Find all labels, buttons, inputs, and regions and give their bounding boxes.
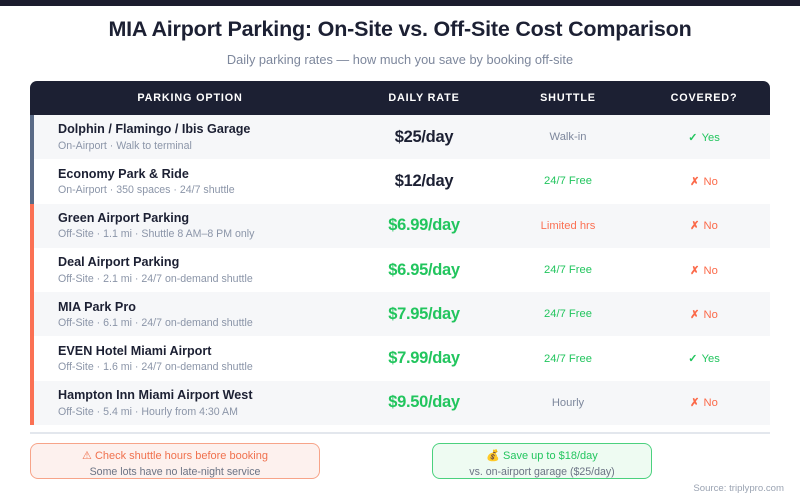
- parking-option-name: Economy Park & Ride: [58, 167, 350, 181]
- column-header-parking-option: PARKING OPTION: [30, 92, 350, 104]
- source-attribution: Source: triplypro.com: [693, 483, 784, 494]
- cell-shuttle: 24/7 Free: [498, 175, 638, 187]
- table-row[interactable]: Green Airport ParkingOff-Site · 1.1 mi ·…: [30, 204, 770, 248]
- cell-shuttle: 24/7 Free: [498, 308, 638, 320]
- column-header-shuttle: SHUTTLE: [498, 92, 638, 104]
- check-icon: ✓: [688, 132, 697, 144]
- table-header-row: PARKING OPTION DAILY RATE SHUTTLE COVERE…: [30, 81, 770, 115]
- cross-icon: ✗: [690, 176, 699, 188]
- savings-callout: 💰 Save up to $18/day vs. on-airport gara…: [432, 443, 652, 479]
- cell-daily-rate: $12/day: [350, 172, 498, 191]
- row-accent-bar: [30, 115, 34, 159]
- cell-covered: ✓Yes: [638, 131, 770, 144]
- table-row[interactable]: Hampton Inn Miami Airport WestOff-Site ·…: [30, 381, 770, 425]
- table-row[interactable]: MIA Park ProOff-Site · 6.1 mi · 24/7 on-…: [30, 292, 770, 336]
- covered-label: No: [704, 220, 718, 232]
- covered-label: No: [704, 176, 718, 188]
- parking-option-meta: Off-Site · 1.6 mi · 24/7 on-demand shutt…: [58, 361, 350, 373]
- row-accent-bar: [30, 292, 34, 336]
- cell-parking-option: Dolphin / Flamingo / Ibis GarageOn-Airpo…: [30, 122, 350, 152]
- page-title: MIA Airport Parking: On-Site vs. Off-Sit…: [0, 17, 800, 43]
- cell-daily-rate: $7.95/day: [350, 305, 498, 324]
- table-body: Dolphin / Flamingo / Ibis GarageOn-Airpo…: [30, 115, 770, 425]
- table-row[interactable]: Economy Park & RideOn-Airport · 350 spac…: [30, 159, 770, 203]
- cell-shuttle: Walk-in: [498, 131, 638, 143]
- table-row[interactable]: Deal Airport ParkingOff-Site · 2.1 mi · …: [30, 248, 770, 292]
- cross-icon: ✗: [690, 220, 699, 232]
- footer-callouts: ⚠ Check shuttle hours before booking Som…: [0, 443, 800, 483]
- covered-label: No: [704, 309, 718, 321]
- cross-icon: ✗: [690, 265, 699, 277]
- page-header: MIA Airport Parking: On-Site vs. Off-Sit…: [0, 0, 800, 67]
- cell-parking-option: MIA Park ProOff-Site · 6.1 mi · 24/7 on-…: [30, 300, 350, 330]
- parking-option-meta: Off-Site · 2.1 mi · 24/7 on-demand shutt…: [58, 273, 350, 285]
- savings-callout-text: Save up to $18/day: [503, 450, 598, 462]
- cell-covered: ✗No: [638, 396, 770, 409]
- warning-callout: ⚠ Check shuttle hours before booking Som…: [30, 443, 320, 479]
- cell-daily-rate: $6.99/day: [350, 216, 498, 235]
- page-subtitle: Daily parking rates — how much you save …: [0, 52, 800, 67]
- parking-option-meta: Off-Site · 1.1 mi · Shuttle 8 AM–8 PM on…: [58, 228, 350, 240]
- cell-parking-option: Green Airport ParkingOff-Site · 1.1 mi ·…: [30, 211, 350, 241]
- cell-shuttle: Limited hrs: [498, 220, 638, 232]
- cross-icon: ✗: [690, 397, 699, 409]
- warning-callout-text: Check shuttle hours before booking: [95, 450, 268, 462]
- money-bag-icon: 💰: [486, 450, 500, 462]
- cell-covered: ✗No: [638, 308, 770, 321]
- parking-option-name: Deal Airport Parking: [58, 255, 350, 269]
- column-header-covered: COVERED?: [638, 92, 770, 104]
- cell-parking-option: Deal Airport ParkingOff-Site · 2.1 mi · …: [30, 255, 350, 285]
- cell-shuttle: 24/7 Free: [498, 264, 638, 276]
- table-bottom-divider: [30, 432, 770, 434]
- covered-label: No: [704, 265, 718, 277]
- cross-icon: ✗: [690, 309, 699, 321]
- cell-parking-option: Economy Park & RideOn-Airport · 350 spac…: [30, 167, 350, 197]
- warning-triangle-icon: ⚠: [82, 450, 92, 462]
- parking-option-name: Hampton Inn Miami Airport West: [58, 388, 350, 402]
- row-accent-bar: [30, 159, 34, 203]
- parking-option-meta: Off-Site · 6.1 mi · 24/7 on-demand shutt…: [58, 317, 350, 329]
- covered-label: Yes: [702, 353, 720, 365]
- parking-option-name: Dolphin / Flamingo / Ibis Garage: [58, 122, 350, 136]
- parking-option-name: MIA Park Pro: [58, 300, 350, 314]
- cell-parking-option: EVEN Hotel Miami AirportOff-Site · 1.6 m…: [30, 344, 350, 374]
- parking-option-name: EVEN Hotel Miami Airport: [58, 344, 350, 358]
- warning-callout-subtext: Some lots have no late-night service: [31, 466, 319, 480]
- warning-callout-headline: ⚠ Check shuttle hours before booking: [31, 450, 319, 464]
- parking-option-name: Green Airport Parking: [58, 211, 350, 225]
- row-accent-bar: [30, 204, 34, 248]
- cell-covered: ✗No: [638, 264, 770, 277]
- check-icon: ✓: [688, 353, 697, 365]
- parking-option-meta: On-Airport · Walk to terminal: [58, 140, 350, 152]
- parking-option-meta: Off-Site · 5.4 mi · Hourly from 4:30 AM: [58, 406, 350, 418]
- covered-label: Yes: [702, 132, 720, 144]
- parking-option-meta: On-Airport · 350 spaces · 24/7 shuttle: [58, 184, 350, 196]
- row-accent-bar: [30, 248, 34, 292]
- table-row[interactable]: EVEN Hotel Miami AirportOff-Site · 1.6 m…: [30, 336, 770, 380]
- infographic-page: MIA Airport Parking: On-Site vs. Off-Sit…: [0, 0, 800, 500]
- row-accent-bar: [30, 336, 34, 380]
- cell-shuttle: 24/7 Free: [498, 353, 638, 365]
- covered-label: No: [704, 397, 718, 409]
- savings-callout-subtext: vs. on-airport garage ($25/day): [433, 466, 651, 480]
- cell-daily-rate: $6.95/day: [350, 261, 498, 280]
- cell-covered: ✗No: [638, 219, 770, 232]
- column-header-daily-rate: DAILY RATE: [350, 92, 498, 104]
- cell-shuttle: Hourly: [498, 397, 638, 409]
- cell-daily-rate: $9.50/day: [350, 393, 498, 412]
- cell-daily-rate: $7.99/day: [350, 349, 498, 368]
- table-row[interactable]: Dolphin / Flamingo / Ibis GarageOn-Airpo…: [30, 115, 770, 159]
- savings-callout-headline: 💰 Save up to $18/day: [433, 450, 651, 464]
- cell-covered: ✗No: [638, 175, 770, 188]
- cell-covered: ✓Yes: [638, 352, 770, 365]
- cell-parking-option: Hampton Inn Miami Airport WestOff-Site ·…: [30, 388, 350, 418]
- row-accent-bar: [30, 381, 34, 425]
- comparison-table: PARKING OPTION DAILY RATE SHUTTLE COVERE…: [30, 81, 770, 425]
- cell-daily-rate: $25/day: [350, 128, 498, 147]
- top-accent-strip: [0, 0, 800, 6]
